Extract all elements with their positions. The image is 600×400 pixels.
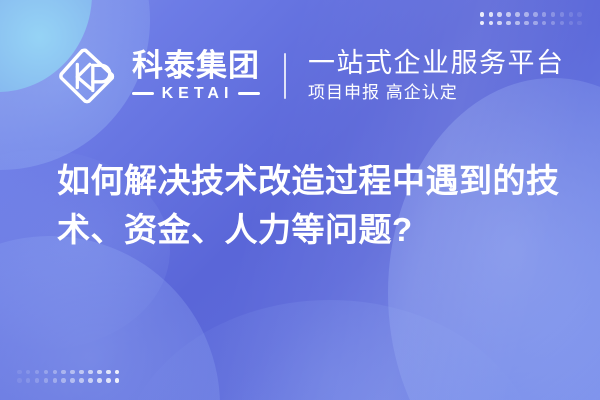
logo-latin-row: KETAI [132, 86, 260, 102]
tagline-secondary: 项目申报 高企认定 [308, 83, 565, 103]
decorative-dot [524, 12, 529, 17]
dot-row [17, 378, 119, 383]
dot-row [480, 12, 582, 17]
decorative-dot [577, 21, 582, 26]
decorative-dot [106, 370, 111, 375]
tagline-primary: 一站式企业服务平台 [308, 48, 565, 78]
decorative-dot [542, 12, 547, 17]
headline: 如何解决技术改造过程中遇到的技 术、资金、人力等问题? [57, 157, 557, 255]
brand-divider [284, 53, 286, 99]
dot-row [17, 370, 119, 375]
decorative-dot [560, 12, 565, 17]
decorative-dot [515, 12, 520, 17]
decorative-dot [551, 12, 556, 17]
logo-chinese-name: 科泰集团 [132, 50, 260, 83]
decorative-dot [533, 21, 538, 26]
decorative-dot [70, 370, 75, 375]
decorative-dot [569, 21, 574, 26]
decorative-dot [97, 378, 102, 383]
promo-banner: 科泰集团 KETAI 一站式企业服务平台 项目申报 高企认定 如何解决技术改造过… [0, 0, 600, 400]
decorative-dot [480, 21, 485, 26]
decorative-dot [524, 21, 529, 26]
decorative-dot [106, 378, 111, 383]
decorative-dot-grid-bottom-left [17, 370, 119, 383]
decorative-dot [497, 12, 502, 17]
decorative-dot [533, 12, 538, 17]
decorative-dot [61, 370, 66, 375]
decorative-dot [577, 12, 582, 17]
decorative-dot [542, 21, 547, 26]
decorative-dot [70, 378, 75, 383]
decorative-dot [26, 378, 31, 383]
logo-rule-left [132, 92, 154, 95]
headline-line-1: 如何解决技术改造过程中遇到的技 [57, 157, 557, 206]
decorative-dot [35, 378, 40, 383]
background-blob-bottom-center [120, 300, 540, 400]
logo-wordmark: 科泰集团 KETAI [132, 50, 260, 102]
ketai-logo-icon [56, 45, 118, 107]
decorative-dot [489, 21, 494, 26]
decorative-dot [115, 370, 120, 375]
decorative-dot [515, 21, 520, 26]
brand-header: 科泰集团 KETAI 一站式企业服务平台 项目申报 高企认定 [56, 38, 565, 114]
decorative-dot [97, 370, 102, 375]
decorative-dot [480, 12, 485, 17]
decorative-dot [35, 370, 40, 375]
logo-latin-name: KETAI [159, 86, 234, 102]
decorative-dot-grid-top-right [480, 12, 582, 25]
decorative-dot [88, 378, 93, 383]
decorative-dot [115, 378, 120, 383]
decorative-dot [44, 370, 49, 375]
decorative-dot [79, 370, 84, 375]
background-blob-bottom-left [0, 236, 220, 400]
decorative-dot [17, 378, 22, 383]
decorative-dot [560, 21, 565, 26]
decorative-dot [497, 21, 502, 26]
decorative-dot [489, 12, 494, 17]
decorative-dot [88, 370, 93, 375]
decorative-dot [506, 21, 511, 26]
tagline-block: 一站式企业服务平台 项目申报 高企认定 [308, 48, 565, 104]
headline-line-2: 术、资金、人力等问题? [57, 206, 557, 255]
decorative-dot [53, 378, 58, 383]
decorative-dot [551, 21, 556, 26]
decorative-dot [53, 370, 58, 375]
decorative-dot [506, 12, 511, 17]
dot-row [480, 21, 582, 26]
decorative-dot [44, 378, 49, 383]
decorative-dot [17, 370, 22, 375]
decorative-dot [61, 378, 66, 383]
decorative-dot [79, 378, 84, 383]
logo-rule-right [238, 92, 260, 95]
decorative-dot [26, 370, 31, 375]
decorative-dot [569, 12, 574, 17]
